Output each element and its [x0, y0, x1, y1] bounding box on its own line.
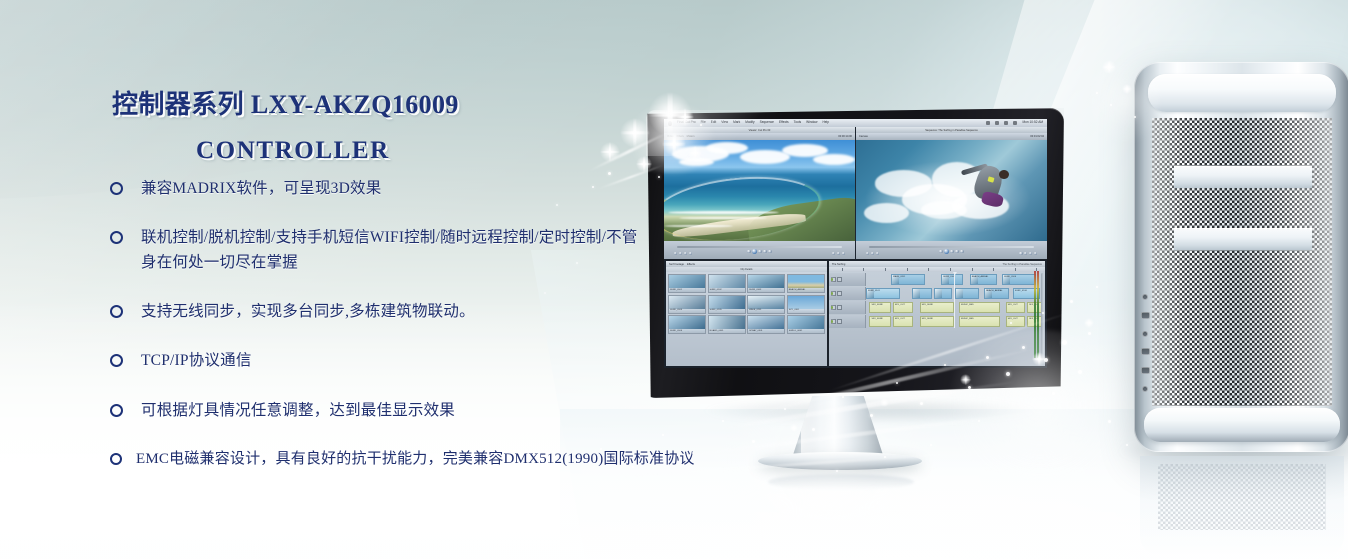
track-header[interactable]	[829, 301, 866, 314]
clip-lane[interactable]: SFX_SURF SFX_OUT SFX_SURF MUSIC_BED SFX_…	[866, 301, 1045, 314]
clip-label: BEACH_AERIAL	[789, 289, 806, 291]
menu-item-tools[interactable]: Tools	[794, 121, 801, 124]
monitor-screen: Final Cut Pro File Edit View Mark Modify…	[664, 119, 1047, 368]
audio-jack-icon	[1142, 331, 1148, 337]
usb-icon	[1141, 312, 1150, 319]
list-item[interactable]: BEACH_AERIAL	[787, 274, 825, 293]
timeline-clip[interactable]: SURF_0101	[866, 288, 900, 299]
hollow-circle-bullet-icon	[110, 453, 122, 465]
menu-item-effects[interactable]: Effects	[779, 121, 789, 124]
timeline-panel[interactable]: The Surfing The Surfing in Paradise Sequ…	[829, 261, 1045, 366]
tab-video[interactable]: Video	[667, 135, 674, 138]
surfer-head	[999, 170, 1009, 179]
canvas-sequence-label: Sequence: The Surfing in Paradise Sequen…	[925, 129, 978, 132]
monitor-stand-reflection	[768, 474, 914, 490]
timeline-clip[interactable]: SFX_SURF	[869, 302, 891, 313]
canvas-zoom-button[interactable]	[1019, 252, 1022, 255]
canvas-prev-button[interactable]	[939, 250, 942, 253]
viewer-tab-bar[interactable]: Video Filters Motion 00:00:14:00	[664, 133, 855, 140]
hollow-circle-bullet-icon	[110, 182, 123, 195]
viewer-mark-out-button[interactable]	[768, 250, 771, 253]
four-point-star-sparkle-icon	[1122, 84, 1132, 94]
bluetooth-icon[interactable]	[995, 121, 999, 125]
menu-item-mark[interactable]: Mark	[733, 121, 740, 124]
timeline-clip[interactable]: SFX_OUT	[893, 302, 913, 313]
viewer-prev-button[interactable]	[747, 250, 750, 253]
firewire-icon	[1142, 294, 1148, 300]
canvas-overwrite-button[interactable]	[871, 252, 874, 255]
timeline-clip[interactable]: SURF_0104	[941, 274, 963, 285]
list-item[interactable]: SURF_0102	[708, 274, 746, 293]
wifi-icon[interactable]	[1004, 121, 1008, 125]
tower-bottom-band	[1144, 408, 1340, 442]
viewer-scrubber[interactable]	[677, 246, 841, 248]
canvas-play-button[interactable]	[944, 249, 949, 254]
canvas-view-buttons[interactable]	[1019, 252, 1037, 255]
timeline-clip[interactable]: SFX_SURF	[920, 302, 954, 313]
product-banner: 控制器系列 LXY-AKZQ16009 CONTROLLER 兼容MADRIX软…	[0, 0, 1348, 559]
monitor-stand-base	[758, 452, 922, 470]
viewer-play-button[interactable]	[752, 249, 757, 254]
timeline-clip[interactable]: WAVE_0201	[891, 274, 925, 285]
surfer-wave-photo	[856, 140, 1047, 241]
timeline-clip[interactable]: SFX_SURF	[920, 316, 954, 327]
clip-label: SWELL_0601	[789, 330, 803, 332]
viewer-overwrite-button[interactable]	[679, 252, 682, 255]
menu-item-window[interactable]: Window	[806, 121, 817, 124]
track-header[interactable]	[829, 315, 866, 328]
canvas-title-safe-button[interactable]	[1029, 252, 1032, 255]
viewer-panel[interactable]: Viewer: Cut Pro 03 Video Filters Motion …	[664, 127, 856, 259]
macos-menu-bar[interactable]: Final Cut Pro File Edit View Mark Modify…	[664, 119, 1047, 127]
timeline-track-v2[interactable]: WAVE_0201 SURF_0104 BEACH_AERIAL SURF_01…	[829, 273, 1045, 286]
track-header[interactable]	[829, 273, 866, 286]
timeline-clip[interactable]: SFX_OUT	[893, 316, 913, 327]
canvas-video-image	[856, 140, 1047, 241]
canvas-panel[interactable]: Sequence: The Surfing in Paradise Sequen…	[856, 127, 1047, 259]
feature-text: 支持无线同步，实现多台同步,多栋建筑物联动。	[141, 299, 475, 324]
list-item[interactable]: SURF_0106	[668, 315, 706, 334]
list-item[interactable]: SURF_0103	[747, 274, 785, 293]
hollow-circle-bullet-icon	[110, 354, 123, 367]
tower-drive-bay-1	[1174, 166, 1312, 188]
timeline-clip[interactable]	[912, 288, 932, 299]
clip-label: SURF_0105	[710, 309, 722, 311]
track-visibility-icon[interactable]	[837, 277, 842, 282]
cinema-display-monitor: Final Cut Pro File Edit View Mark Modify…	[644, 108, 1064, 398]
tab-effects[interactable]: Effects	[687, 263, 695, 266]
menu-item-file[interactable]: File	[701, 121, 706, 124]
track-header[interactable]	[829, 287, 866, 300]
timeline-clip[interactable]: SFX_OUT	[1006, 302, 1026, 313]
browser-column-label: Clip Details	[740, 268, 752, 271]
browser-thumbnail-grid[interactable]: SURF_0101 SURF_0102 SURF_0103 BEACH_AERI…	[666, 272, 827, 336]
ethernet-icon	[1141, 348, 1150, 355]
clip-label: SURF_0104	[670, 309, 682, 311]
feature-text: 联机控制/脱机控制/支持手机短信WIFI控制/随时远程控制/定时控制/不管身在何…	[141, 225, 641, 275]
list-item[interactable]: SURF_0104	[668, 295, 706, 314]
track-solo-icon[interactable]	[837, 305, 842, 310]
viewer-title: Viewer: Cut Pro 03	[749, 129, 771, 132]
displayport-icon	[1141, 367, 1150, 374]
clip-label: SURF_0101	[670, 289, 682, 291]
list-item[interactable]: SPRAY_0501	[747, 315, 785, 334]
tower-port-panel	[1138, 288, 1152, 398]
timeline-clip[interactable]	[955, 288, 978, 299]
menu-item-view[interactable]: View	[721, 121, 728, 124]
tab-filters[interactable]: Filters	[677, 135, 684, 138]
timeline-clip[interactable]	[934, 288, 952, 299]
canvas-insert-button[interactable]	[866, 252, 869, 255]
four-point-star-sparkle-icon	[1084, 318, 1094, 328]
timeline-clip[interactable]: BEACH_AERIAL	[984, 288, 1009, 299]
clip-label: SPRAY_0501	[749, 330, 762, 332]
clip-label: SKY_0301	[789, 309, 799, 311]
timeline-clip[interactable]: SFX_OUT	[1006, 316, 1026, 327]
timeline-clip[interactable]: SFX_SURF	[869, 316, 891, 327]
canvas-timecode[interactable]: 00:01:02:04	[1030, 135, 1044, 138]
canvas-transport-controls[interactable]	[856, 241, 1047, 259]
viewer-left-tool-buttons[interactable]	[674, 252, 692, 255]
timeline-sequence-name: The Surfing in Paradise Sequence	[1002, 263, 1042, 266]
list-item[interactable]: SWELL_0601	[787, 315, 825, 334]
power-icon	[1142, 386, 1148, 392]
mac-pro-tower	[1134, 62, 1348, 452]
clip-label: WAVE_0201	[749, 309, 761, 311]
canvas-wireframe-button[interactable]	[1024, 252, 1027, 255]
canvas-record-button[interactable]	[876, 252, 879, 255]
timeline-playhead[interactable]	[954, 272, 955, 328]
canvas-edit-buttons[interactable]	[866, 252, 879, 255]
viewer-zoom-button[interactable]	[832, 252, 835, 255]
feature-text: EMC电磁兼容设计，具有良好的抗干扰能力，完美兼容DMX512(1990)国际标…	[136, 447, 695, 471]
canvas-mark-in-button[interactable]	[955, 250, 958, 253]
timeline-track-a2[interactable]: SFX_SURF SFX_OUT SFX_SURF MUSIC_BED SFX_…	[829, 315, 1045, 328]
clip-label: SURF_0102	[710, 289, 722, 291]
viewer-insert-button[interactable]	[674, 252, 677, 255]
list-item[interactable]: SURF_0105	[708, 295, 746, 314]
list-item[interactable]: SKY_0301	[787, 295, 825, 314]
viewer-transport-controls[interactable]	[664, 241, 855, 259]
feature-text: 兼容MADRIX软件，可呈现3D效果	[141, 176, 381, 201]
apple-logo-icon[interactable]	[668, 121, 672, 126]
battery-icon[interactable]	[1013, 121, 1017, 125]
timeline-track-a1[interactable]: SFX_SURF SFX_OUT SFX_SURF MUSIC_BED SFX_…	[829, 301, 1045, 314]
viewer-video-image	[664, 140, 855, 241]
audio-meters	[1034, 271, 1039, 358]
track-visibility-icon[interactable]	[837, 291, 842, 296]
clip-label: SURF_0103	[749, 289, 761, 291]
list-item[interactable]: BOARD_0401	[708, 315, 746, 334]
canvas-tab-bar[interactable]: Canvas 00:01:02:04	[856, 133, 1047, 140]
clip-lane[interactable]: SFX_SURF SFX_OUT SFX_SURF MUSIC_BED SFX_…	[866, 315, 1045, 328]
menu-item-sequence[interactable]: Sequence	[760, 121, 774, 124]
canvas-playback-buttons[interactable]	[939, 249, 964, 254]
menu-item-edit[interactable]: Edit	[711, 121, 717, 124]
viewer-replace-button[interactable]	[684, 252, 687, 255]
four-point-star-sparkle-icon	[1102, 60, 1116, 74]
viewer-mark-in-button[interactable]	[763, 250, 766, 253]
list-item: EMC电磁兼容设计，具有良好的抗干扰能力，完美兼容DMX512(1990)国际标…	[110, 447, 870, 471]
viewer-right-tool-buttons[interactable]	[832, 252, 845, 255]
list-item[interactable]: WAVE_0201	[747, 295, 785, 314]
viewer-row: Viewer: Cut Pro 03 Video Filters Motion …	[664, 127, 1047, 259]
tab-surf-footage[interactable]: Surf Footage	[669, 263, 684, 266]
timeline-clip[interactable]: BEACH_AERIAL	[970, 274, 997, 285]
menu-bar-clock[interactable]: Mon 10:52 AM	[1022, 121, 1043, 124]
feature-text: TCP/IP协议通信	[141, 348, 252, 373]
viewer-fit-button[interactable]	[689, 252, 692, 255]
final-cut-pro-window: Final Cut Pro File Edit View Mark Modify…	[664, 119, 1047, 368]
hollow-circle-bullet-icon	[110, 231, 123, 244]
tab-canvas[interactable]: Canvas	[859, 135, 868, 138]
canvas-mark-out-button[interactable]	[960, 250, 963, 253]
timeline-scrollbar[interactable]	[1041, 273, 1044, 360]
clip-label: SURF_0106	[670, 330, 682, 332]
menu-item-app[interactable]: Final Cut Pro	[677, 121, 696, 124]
clip-lane[interactable]: SURF_0101 BEACH_AERIAL SURF_0106	[866, 287, 1045, 300]
tower-floor-reflection	[1140, 456, 1344, 556]
hollow-circle-bullet-icon	[110, 305, 123, 318]
coastline-rainbow-photo	[664, 140, 855, 241]
lower-panel-row: Surf Footage Effects Clip Details SURF_0…	[664, 259, 1047, 368]
feature-text: 可根据灯具情况任意调整，达到最佳显示效果	[141, 398, 455, 423]
tower-reflection-grille	[1158, 464, 1326, 530]
viewer-distort-button[interactable]	[842, 252, 845, 255]
timeline-clip[interactable]: MUSIC_BED	[959, 316, 1000, 327]
timeline-tracks[interactable]: WAVE_0201 SURF_0104 BEACH_AERIAL SURF_01…	[829, 272, 1045, 328]
tab-sequence[interactable]: The Surfing	[832, 263, 845, 266]
menu-item-modify[interactable]: Modify	[745, 121, 754, 124]
tower-top-handle-band	[1148, 74, 1336, 112]
viewer-timecode[interactable]: 00:00:14:00	[838, 135, 852, 138]
viewer-crop-button[interactable]	[837, 252, 840, 255]
clip-label: BOARD_0401	[710, 330, 724, 332]
browser-panel[interactable]: Surf Footage Effects Clip Details SURF_0…	[666, 261, 827, 366]
tower-drive-bay-2	[1174, 228, 1312, 250]
timeline-track-v1[interactable]: SURF_0101 BEACH_AERIAL SURF_0106	[829, 287, 1045, 300]
tab-motion[interactable]: Motion	[687, 135, 695, 138]
timeline-clip[interactable]: SURF_0106	[1002, 274, 1036, 285]
canvas-scrubber[interactable]	[869, 246, 1033, 248]
canvas-render-button[interactable]	[1034, 252, 1037, 255]
viewer-next-button[interactable]	[758, 250, 761, 253]
menu-item-help[interactable]: Help	[822, 121, 829, 124]
list-item[interactable]: SURF_0101	[668, 274, 706, 293]
canvas-next-button[interactable]	[950, 250, 953, 253]
track-solo-icon[interactable]	[837, 319, 842, 324]
gear-icon[interactable]	[986, 121, 990, 125]
tower-perforated-grille	[1152, 118, 1332, 406]
hollow-circle-bullet-icon	[110, 404, 123, 417]
timeline-clip[interactable]: MUSIC_BED	[959, 302, 1000, 313]
viewer-playback-buttons[interactable]	[747, 249, 772, 254]
